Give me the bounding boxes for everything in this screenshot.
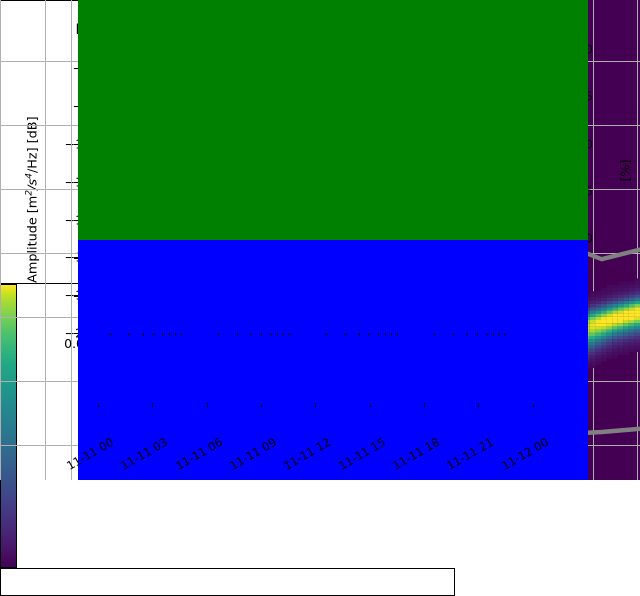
x-minor-tick-mark <box>153 333 154 336</box>
x-minor-tick-mark <box>397 333 398 336</box>
x-minor-tick-mark <box>434 333 435 336</box>
x-minor-tick-mark <box>391 333 392 336</box>
x-minor-tick-mark <box>261 333 262 336</box>
x-minor-tick-mark <box>467 333 468 336</box>
timeline-tick-mark <box>533 403 534 407</box>
x-minor-tick-mark <box>453 333 454 336</box>
ppsd-figure: BW.HROE..BHN 2025-11-11 -- 2025-11-11 (4… <box>0 0 640 480</box>
x-minor-tick-mark <box>181 333 182 336</box>
x-minor-tick-mark <box>110 333 111 336</box>
x-minor-tick-mark <box>486 333 487 336</box>
x-minor-tick-mark <box>359 333 360 336</box>
x-minor-tick-mark <box>162 333 163 336</box>
x-minor-tick-mark <box>493 333 494 336</box>
x-minor-tick-mark <box>378 333 379 336</box>
timeline-tick-mark <box>207 403 208 407</box>
x-minor-tick-mark <box>326 333 327 336</box>
x-minor-tick-mark <box>270 333 271 336</box>
data-coverage-timeline[interactable] <box>0 568 455 596</box>
colorbar-label: [%] <box>619 141 634 201</box>
timeline-tick-mark <box>478 403 479 407</box>
x-minor-tick-mark <box>143 333 144 336</box>
x-minor-tick-mark <box>175 333 176 336</box>
timeline-tick-mark <box>261 403 262 407</box>
x-minor-tick-mark <box>169 333 170 336</box>
x-minor-tick-mark <box>385 333 386 336</box>
x-minor-tick-mark <box>369 333 370 336</box>
x-minor-tick-mark <box>477 333 478 336</box>
timeline-tick-mark <box>424 403 425 407</box>
timeline-tick-mark <box>315 403 316 407</box>
x-minor-tick-mark <box>237 333 238 336</box>
x-minor-tick-mark <box>129 333 130 336</box>
x-minor-tick-mark <box>251 333 252 336</box>
timeline-tick-mark <box>370 403 371 407</box>
x-minor-tick-mark <box>218 333 219 336</box>
x-minor-tick-mark <box>345 333 346 336</box>
x-minor-tick-mark <box>283 333 284 336</box>
timeline-tick-mark <box>98 403 99 407</box>
x-minor-tick-mark <box>499 333 500 336</box>
x-minor-tick-mark <box>289 333 290 336</box>
x-minor-tick-mark <box>505 333 506 336</box>
timeline-tick-mark <box>152 403 153 407</box>
x-minor-tick-mark <box>277 333 278 336</box>
